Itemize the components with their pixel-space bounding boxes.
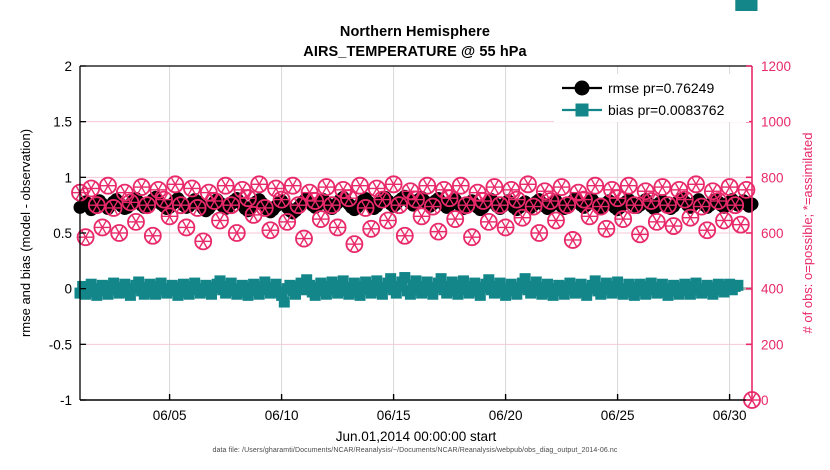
chart-screenshot: Northern Hemisphere AIRS_TEMPERATURE @ 5… xyxy=(0,0,830,470)
tick-label-left: -1 xyxy=(60,393,72,408)
tick-label-right: 200 xyxy=(761,337,784,352)
tick-label-left: 0 xyxy=(64,282,72,297)
tick-label-x: 06/05 xyxy=(153,408,187,423)
tick-label-left: -0.5 xyxy=(49,337,72,352)
tick-label-right: 400 xyxy=(761,282,784,297)
legend-label: rmse pr=0.76249 xyxy=(608,80,714,96)
bias-marker xyxy=(747,0,758,11)
tick-label-x: 06/10 xyxy=(265,408,299,423)
data-file-note: data file: /Users/gharamti/Documents/NCA… xyxy=(0,447,830,454)
legend: rmse pr=0.76249bias pr=0.0083762 xyxy=(554,74,749,122)
tick-label-left: 2 xyxy=(64,59,72,74)
tick-label-left: 0.5 xyxy=(53,226,72,241)
tick-label-right: 0 xyxy=(761,393,769,408)
y-axis-label-left: rmse and bias (model - observation) xyxy=(18,129,33,337)
legend-label: bias pr=0.0083762 xyxy=(608,102,725,118)
bias-marker xyxy=(732,280,743,291)
series-bias xyxy=(75,0,758,308)
tick-label-right: 800 xyxy=(761,170,784,185)
legend-marker-rmse xyxy=(575,81,590,96)
plot-area: -1-0.500.511.5202004006008001000120006/0… xyxy=(0,0,830,470)
tick-label-x: 06/20 xyxy=(489,408,523,423)
tick-label-x: 06/30 xyxy=(713,408,747,423)
chart-svg: -1-0.500.511.5202004006008001000120006/0… xyxy=(0,0,830,470)
x-axis-label: Jun.01,2014 00:00:00 start xyxy=(336,429,497,444)
tick-label-x: 06/15 xyxy=(377,408,411,423)
tick-label-x: 06/25 xyxy=(601,408,635,423)
tick-label-right: 600 xyxy=(761,226,784,241)
tick-label-left: 1.5 xyxy=(53,115,72,130)
tick-label-right: 1000 xyxy=(761,115,791,130)
tick-label-right: 1200 xyxy=(761,59,791,74)
bias-marker xyxy=(279,297,290,308)
y-axis-label-right: # of obs: o=possible; *=assimilated xyxy=(800,133,815,334)
tick-label-left: 1 xyxy=(64,170,72,185)
legend-marker-bias xyxy=(576,104,589,117)
